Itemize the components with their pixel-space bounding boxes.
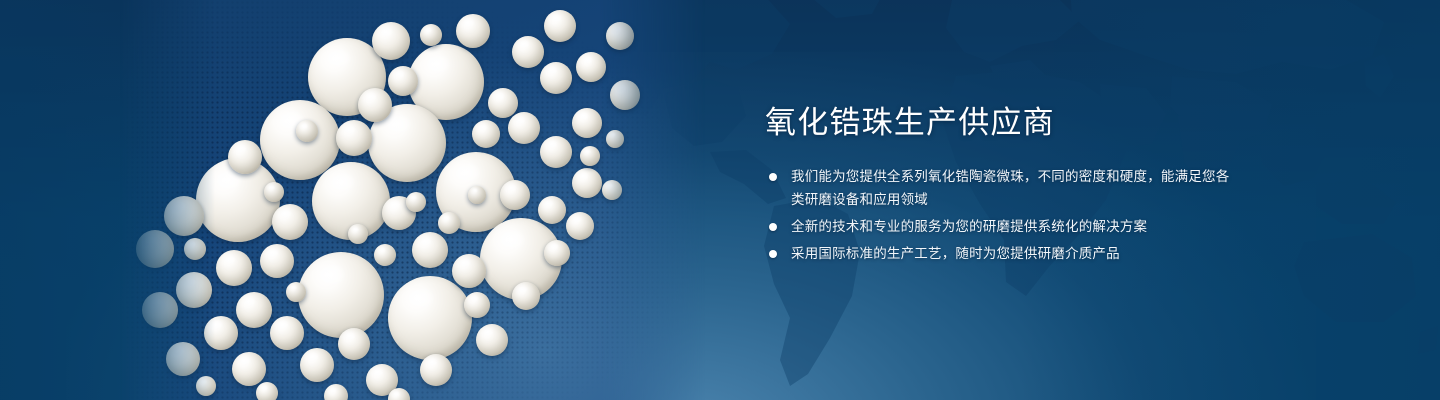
bead [348,224,368,244]
bead [572,168,602,198]
list-item: 采用国际标准的生产工艺，随时为您提供研磨介质产品 [765,242,1235,265]
bead [300,348,334,382]
bead [566,212,594,240]
list-item-label: 我们能为您提供全系列氧化锆陶瓷微珠，不同的密度和硬度，能满足您各类研磨设备和应用… [791,169,1229,207]
bead [576,52,606,82]
list-item-label: 全新的技术和专业的服务为您的研磨提供系统化的解决方案 [791,219,1147,234]
bead [468,186,486,204]
bead [420,354,452,386]
bead [166,342,200,376]
bead [374,244,396,266]
bead [476,324,508,356]
bead [388,66,418,96]
bead [216,250,252,286]
bead [544,240,570,266]
bead-cluster [120,0,710,400]
page-title: 氧化锆珠生产供应商 [765,104,1235,141]
bead [142,292,178,328]
bead [438,212,460,234]
bullet-dot-icon [769,173,777,181]
banner-copy: 氧化锆珠生产供应商 我们能为您提供全系列氧化锆陶瓷微珠，不同的密度和硬度，能满足… [765,104,1235,269]
bead [196,376,216,396]
list-item: 我们能为您提供全系列氧化锆陶瓷微珠，不同的密度和硬度，能满足您各类研磨设备和应用… [765,165,1235,211]
list-item: 全新的技术和专业的服务为您的研磨提供系统化的解决方案 [765,215,1235,238]
bead [464,292,490,318]
bead [264,182,284,202]
hero-banner: 氧化锆珠生产供应商 我们能为您提供全系列氧化锆陶瓷微珠，不同的密度和硬度，能满足… [0,0,1440,400]
bead [270,316,304,350]
bead [184,238,206,260]
bead [472,120,500,148]
bead [164,196,204,236]
bead [544,10,576,42]
bead [232,352,266,386]
bead [420,24,442,46]
bead [580,146,600,166]
bead [488,88,518,118]
bead [324,384,348,400]
bead [606,22,634,50]
bead [336,120,372,156]
bead [256,382,278,400]
bead [388,388,410,400]
bead [260,244,294,278]
bead [372,22,410,60]
bead [412,232,448,268]
bead [606,130,624,148]
bullet-dot-icon [769,223,777,231]
bead [602,180,622,200]
bead [388,276,472,360]
bead [228,140,262,174]
bead [538,196,566,224]
product-photo-zirconia-beads [120,0,710,400]
bead [500,180,530,210]
bullet-dot-icon [769,250,777,258]
bead [572,108,602,138]
bead [512,36,544,68]
bead [456,14,490,48]
bead [296,120,318,142]
bead [540,62,572,94]
bead [406,192,426,212]
feature-list: 我们能为您提供全系列氧化锆陶瓷微珠，不同的密度和硬度，能满足您各类研磨设备和应用… [765,165,1235,265]
bead [272,204,308,240]
bead [610,80,640,110]
bead [512,282,540,310]
bead [358,88,392,122]
bead [540,136,572,168]
bead [136,230,174,268]
bead [452,254,486,288]
bead [176,272,212,308]
bead [204,316,238,350]
bead [298,252,384,338]
bead [508,112,540,144]
bead [236,292,272,328]
list-item-label: 采用国际标准的生产工艺，随时为您提供研磨介质产品 [791,246,1120,261]
bead [286,282,306,302]
bead [338,328,370,360]
